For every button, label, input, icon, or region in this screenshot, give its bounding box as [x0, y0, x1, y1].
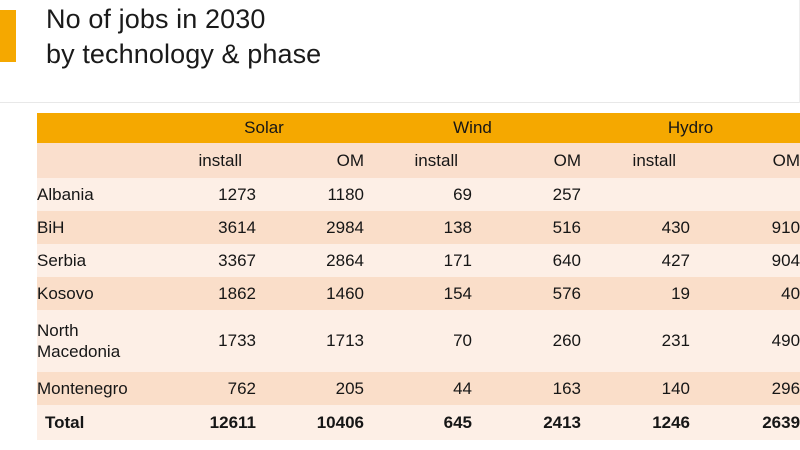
sub-header-solar-om: OM [256, 143, 364, 178]
cell-hydro-om: 296 [690, 372, 800, 405]
cell-hydro-om [690, 178, 800, 211]
cell-hydro-om: 40 [690, 277, 800, 310]
cell-wind-install: 69 [364, 178, 472, 211]
sub-header-hydro-om: OM [690, 143, 800, 178]
cell-wind-install: 171 [364, 244, 472, 277]
total-solar-install: 12611 [164, 405, 256, 440]
table-total-row: Total 12611 10406 645 2413 1246 2639 [37, 405, 800, 440]
table-row: Albania 1273 1180 69 257 [37, 178, 800, 211]
group-header-wind: Wind [364, 113, 581, 143]
cell-wind-om: 640 [472, 244, 581, 277]
cell-wind-om: 163 [472, 372, 581, 405]
sub-header-solar-install: install [164, 143, 256, 178]
cell-solar-install: 762 [164, 372, 256, 405]
cell-hydro-install [581, 178, 690, 211]
cell-solar-install: 1273 [164, 178, 256, 211]
cell-solar-om: 2864 [256, 244, 364, 277]
cell-wind-install: 44 [364, 372, 472, 405]
table-row: Serbia 3367 2864 171 640 427 904 [37, 244, 800, 277]
cell-solar-om: 1460 [256, 277, 364, 310]
row-country: North Macedonia [37, 310, 164, 372]
cell-hydro-om: 490 [690, 310, 800, 372]
table-head: Solar Wind Hydro install OM install OM i… [37, 113, 800, 178]
table-row: North Macedonia 1733 1713 70 260 231 490 [37, 310, 800, 372]
cell-solar-install: 1862 [164, 277, 256, 310]
cell-hydro-install: 231 [581, 310, 690, 372]
table-body: Albania 1273 1180 69 257 BiH 3614 2984 1… [37, 178, 800, 440]
table-row: BiH 3614 2984 138 516 430 910 [37, 211, 800, 244]
group-header-hydro: Hydro [581, 113, 800, 143]
row-country: BiH [37, 211, 164, 244]
total-wind-install: 645 [364, 405, 472, 440]
cell-wind-om: 576 [472, 277, 581, 310]
total-wind-om: 2413 [472, 405, 581, 440]
row-country: Kosovo [37, 277, 164, 310]
title-card: No of jobs in 2030 by technology & phase [0, 0, 800, 103]
corner-cell [37, 113, 164, 143]
table-row: Kosovo 1862 1460 154 576 19 40 [37, 277, 800, 310]
jobs-table: Solar Wind Hydro install OM install OM i… [37, 113, 800, 440]
table-row: Montenegro 762 205 44 163 140 296 [37, 372, 800, 405]
total-solar-om: 10406 [256, 405, 364, 440]
cell-solar-install: 3367 [164, 244, 256, 277]
cell-wind-install: 154 [364, 277, 472, 310]
cell-solar-om: 1713 [256, 310, 364, 372]
sub-header-wind-om: OM [472, 143, 581, 178]
cell-hydro-install: 140 [581, 372, 690, 405]
cell-solar-install: 3614 [164, 211, 256, 244]
cell-solar-om: 205 [256, 372, 364, 405]
cell-hydro-install: 430 [581, 211, 690, 244]
cell-wind-install: 138 [364, 211, 472, 244]
cell-wind-om: 257 [472, 178, 581, 211]
row-country: Albania [37, 178, 164, 211]
group-header-row: Solar Wind Hydro [37, 113, 800, 143]
cell-solar-om: 1180 [256, 178, 364, 211]
sub-header-row: install OM install OM install OM [37, 143, 800, 178]
total-hydro-om: 2639 [690, 405, 800, 440]
sub-header-corner [37, 143, 164, 178]
sub-header-wind-install: install [364, 143, 472, 178]
total-hydro-install: 1246 [581, 405, 690, 440]
cell-hydro-install: 19 [581, 277, 690, 310]
group-header-solar: Solar [164, 113, 364, 143]
cell-hydro-om: 910 [690, 211, 800, 244]
sub-header-hydro-install: install [581, 143, 690, 178]
cell-hydro-om: 904 [690, 244, 800, 277]
accent-bar [0, 10, 16, 62]
cell-wind-install: 70 [364, 310, 472, 372]
page-title: No of jobs in 2030 by technology & phase [46, 2, 321, 72]
jobs-table-container: Solar Wind Hydro install OM install OM i… [37, 113, 800, 440]
cell-solar-install: 1733 [164, 310, 256, 372]
cell-hydro-install: 427 [581, 244, 690, 277]
row-country: Montenegro [37, 372, 164, 405]
cell-wind-om: 260 [472, 310, 581, 372]
cell-solar-om: 2984 [256, 211, 364, 244]
total-label: Total [37, 405, 164, 440]
row-country: Serbia [37, 244, 164, 277]
cell-wind-om: 516 [472, 211, 581, 244]
